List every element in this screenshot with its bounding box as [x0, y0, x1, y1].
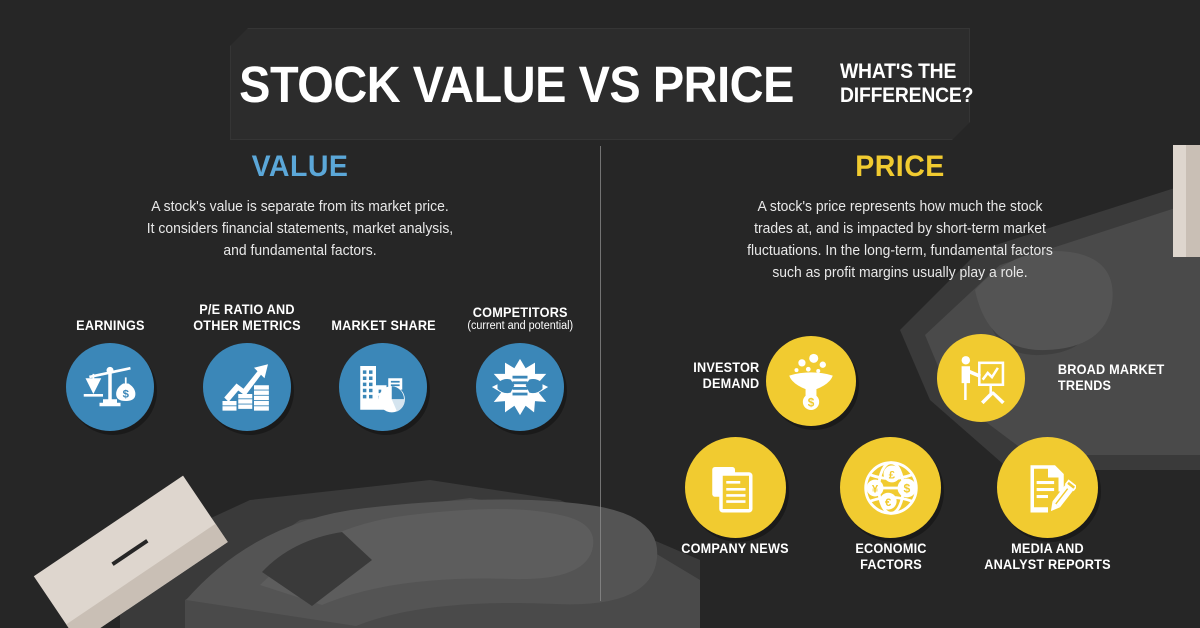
label-line-1: ECONOMIC FACTORS: [824, 541, 957, 573]
price-item-label-investor-demand: INVESTOR DEMAND: [679, 360, 760, 392]
globe-currency-icon: £ ¥ $ €: [840, 437, 941, 538]
value-item-label: MARKET SHARE: [331, 300, 435, 334]
value-items: EARNINGS $: [50, 300, 580, 431]
price-item-label-company-news: COMPANY NEWS: [669, 541, 801, 557]
value-desc-line-2: It considers financial statements, marke…: [146, 218, 453, 240]
buildings-pie-chart-icon: [339, 343, 427, 431]
price-item-label-economic-factors: ECONOMIC FACTORS: [824, 541, 957, 573]
value-column: VALUE A stock's value is separate from i…: [0, 152, 600, 262]
value-label-text: EARNINGS: [76, 318, 144, 334]
growth-arrow-coins-icon: [203, 343, 291, 431]
value-label-sub: (current and potential): [467, 320, 573, 334]
svg-text:$: $: [808, 396, 815, 409]
value-item-earnings[interactable]: EARNINGS $: [50, 300, 170, 431]
price-desc-line-2: trades at, and is impacted by short-term…: [641, 218, 1159, 240]
page-subtitle: WHAT'S THE DIFFERENCE?: [840, 60, 973, 107]
svg-text:£: £: [888, 469, 895, 481]
price-item-broad-market-trends[interactable]: [937, 334, 1025, 422]
documents-stack-icon: [685, 437, 786, 538]
value-item-pe-ratio[interactable]: P/E RATIO AND OTHER METRICS: [187, 300, 307, 431]
price-item-company-news[interactable]: [683, 437, 787, 538]
price-item-investor-demand[interactable]: $: [766, 336, 856, 426]
value-desc-line-1: A stock's value is separate from its mar…: [146, 196, 453, 218]
label-line-1: MEDIA AND: [979, 541, 1115, 557]
svg-text:$: $: [123, 389, 130, 401]
value-item-label: COMPETITORS (current and potential): [467, 300, 573, 334]
label-line-1: BROAD MARKET: [1058, 362, 1180, 378]
value-label-text: P/E RATIO AND OTHER METRICS: [190, 302, 303, 334]
svg-text:€: €: [885, 496, 892, 508]
funnel-dollar-icon: $: [766, 336, 856, 426]
price-heading: PRICE: [615, 152, 1185, 182]
scales-money-bag-icon: $: [66, 343, 154, 431]
value-item-label: EARNINGS: [76, 300, 144, 334]
value-label-text: COMPETITORS: [467, 305, 573, 321]
value-item-competitors[interactable]: COMPETITORS (current and potential): [460, 300, 580, 431]
price-desc-line-3: fluctuations. In the long-term, fundamen…: [641, 240, 1159, 262]
svg-text:¥: ¥: [871, 483, 878, 495]
value-desc-line-3: and fundamental factors.: [146, 240, 453, 262]
infographic-canvas: STOCK VALUE VS PRICE WHAT'S THE DIFFEREN…: [0, 0, 1200, 628]
subtitle-line-2: DIFFERENCE?: [840, 84, 973, 108]
value-item-market-share[interactable]: MARKET SHARE: [323, 300, 443, 431]
page-title: STOCK VALUE VS PRICE: [239, 59, 794, 110]
presenter-chart-icon: [937, 334, 1025, 422]
header: STOCK VALUE VS PRICE WHAT'S THE DIFFEREN…: [230, 28, 970, 140]
value-label-text: MARKET SHARE: [331, 318, 435, 334]
price-item-media-analyst-reports[interactable]: [997, 437, 1098, 538]
label-line-2: DEMAND: [679, 376, 760, 392]
value-item-label: P/E RATIO AND OTHER METRICS: [190, 300, 303, 334]
svg-text:$: $: [903, 481, 910, 495]
label-line-1: COMPANY NEWS: [669, 541, 801, 557]
value-description: A stock's value is separate from its mar…: [12, 196, 588, 262]
competing-hands-burst-icon: [476, 343, 564, 431]
label-line-2: ANALYST REPORTS: [979, 557, 1115, 573]
price-item-label-broad-market-trends: BROAD MARKET TRENDS: [1058, 362, 1180, 394]
price-desc-line-1: A stock's price represents how much the …: [641, 196, 1159, 218]
price-item-label-media-analyst-reports: MEDIA AND ANALYST REPORTS: [979, 541, 1115, 573]
price-description: A stock's price represents how much the …: [612, 196, 1188, 284]
report-pencil-icon: [997, 437, 1098, 538]
value-heading: VALUE: [15, 152, 585, 182]
subtitle-line-1: WHAT'S THE: [840, 60, 973, 84]
label-line-1: INVESTOR: [679, 360, 760, 376]
label-line-2: TRENDS: [1058, 378, 1180, 394]
price-column: PRICE A stock's price represents how muc…: [600, 152, 1200, 284]
price-desc-line-4: such as profit margins usually play a ro…: [641, 262, 1159, 284]
price-item-economic-factors[interactable]: £ ¥ $ €: [840, 437, 941, 538]
